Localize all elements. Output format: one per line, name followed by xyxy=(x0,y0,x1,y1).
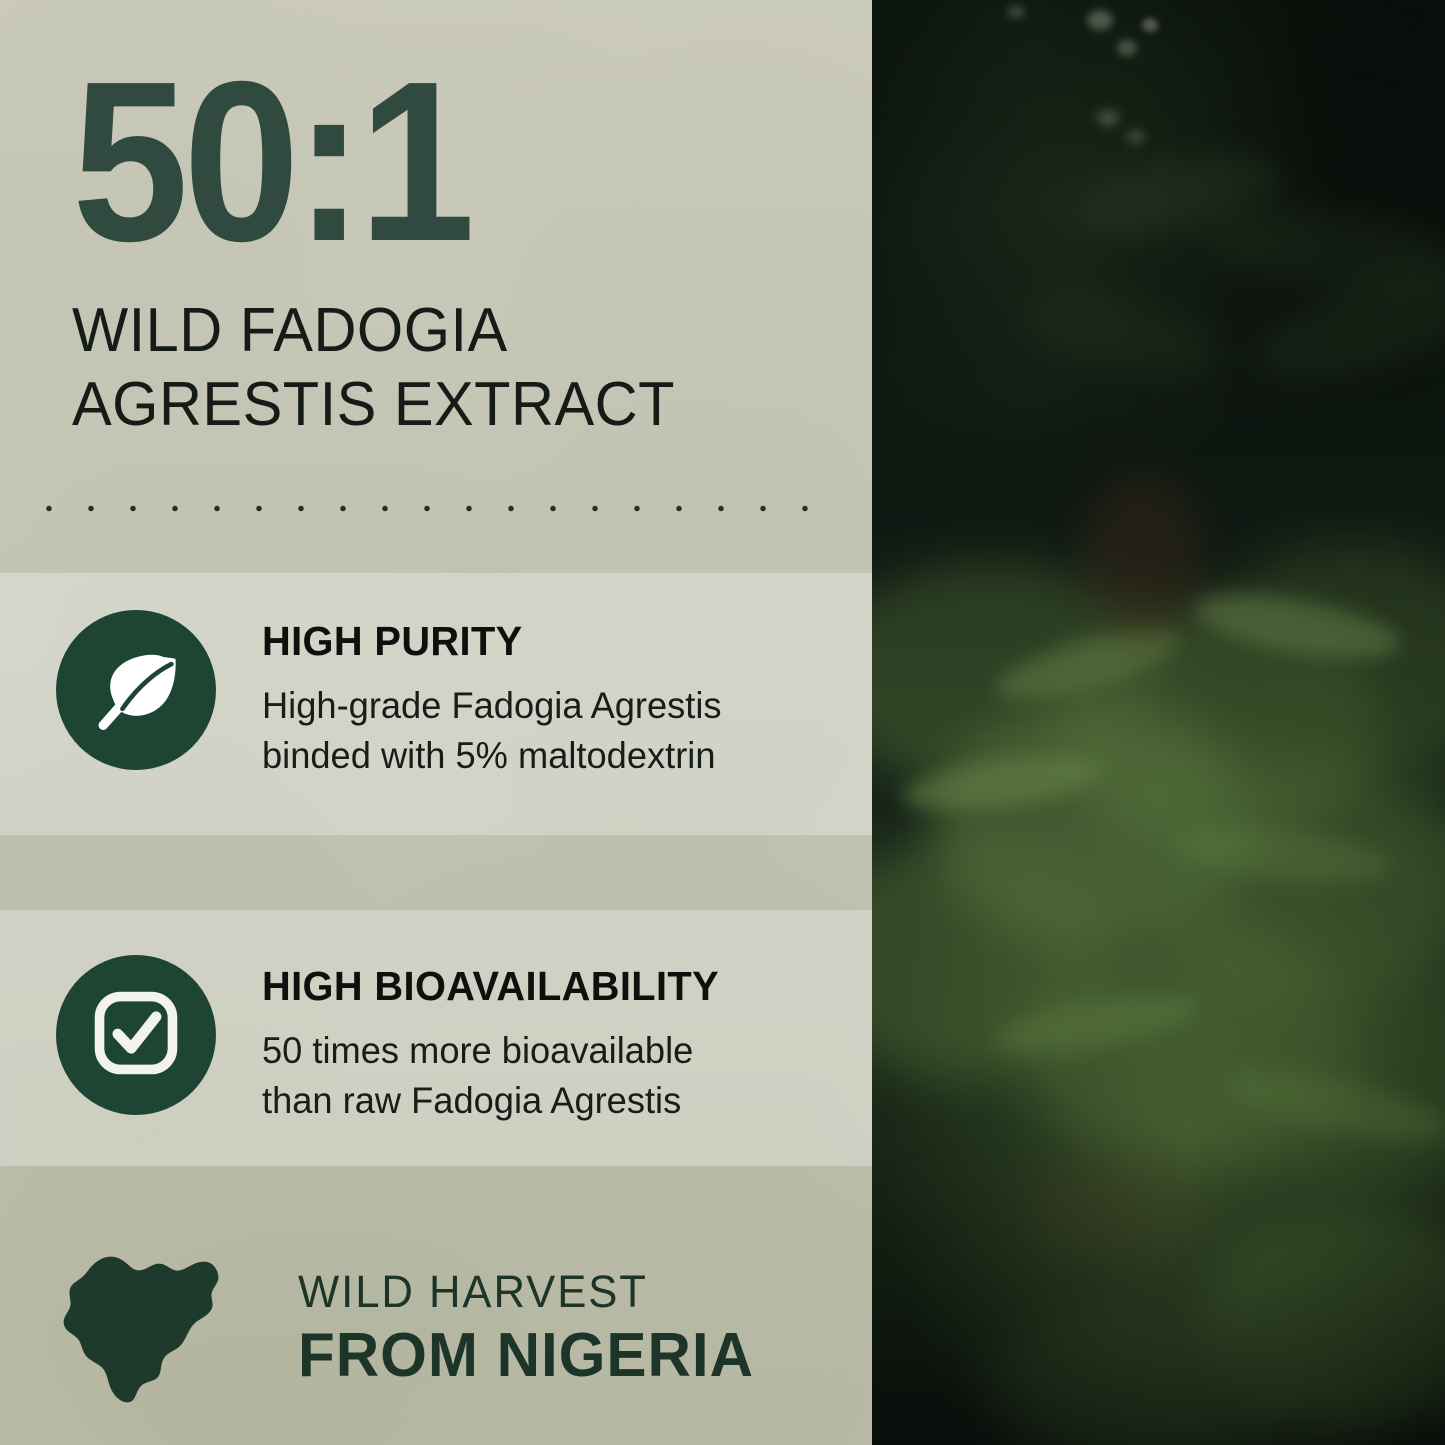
jungle-photo xyxy=(872,0,1445,1445)
origin-text-group: WILD HARVEST FROM NIGERIA xyxy=(298,1268,768,1388)
feature-title: HIGH BIOAVAILABILITY xyxy=(262,963,719,1010)
feature-text-high-bioavailability: HIGH BIOAVAILABILITY 50 times more bioav… xyxy=(262,955,733,1125)
leaf-icon-badge xyxy=(56,610,216,770)
infographic-canvas: 50:1 WILD FADOGIA AGRESTIS EXTRACT xyxy=(0,0,1445,1445)
hero-heading-group: 50:1 WILD FADOGIA AGRESTIS EXTRACT xyxy=(72,58,852,443)
origin-line-2: FROM NIGERIA xyxy=(298,1323,754,1388)
dotted-divider xyxy=(28,505,840,512)
photo-vignette xyxy=(872,0,1445,1445)
origin-row: WILD HARVEST FROM NIGERIA xyxy=(56,1248,768,1408)
feature-description: High-grade Fadogia Agrestis binded with … xyxy=(262,681,722,780)
feature-title: HIGH PURITY xyxy=(262,618,717,665)
leaf-icon xyxy=(84,636,188,745)
feature-row-high-purity: HIGH PURITY High-grade Fadogia Agrestis … xyxy=(56,610,731,780)
product-subtitle-line-1: WILD FADOGIA xyxy=(72,294,821,368)
left-info-panel: 50:1 WILD FADOGIA AGRESTIS EXTRACT xyxy=(0,0,872,1445)
checkbox-icon-badge xyxy=(56,955,216,1115)
checkbox-check-icon xyxy=(88,985,184,1086)
feature-row-high-bioavailability: HIGH BIOAVAILABILITY 50 times more bioav… xyxy=(56,955,733,1125)
extract-ratio: 50:1 xyxy=(72,58,790,268)
origin-line-1: WILD HARVEST xyxy=(298,1268,754,1317)
nigeria-map-icon xyxy=(56,1248,242,1408)
feature-description: 50 times more bioavailable than raw Fado… xyxy=(262,1026,724,1125)
product-subtitle: WILD FADOGIA AGRESTIS EXTRACT xyxy=(72,294,821,443)
feature-text-high-purity: HIGH PURITY High-grade Fadogia Agrestis … xyxy=(262,610,731,780)
product-subtitle-line-2: AGRESTIS EXTRACT xyxy=(72,368,821,442)
